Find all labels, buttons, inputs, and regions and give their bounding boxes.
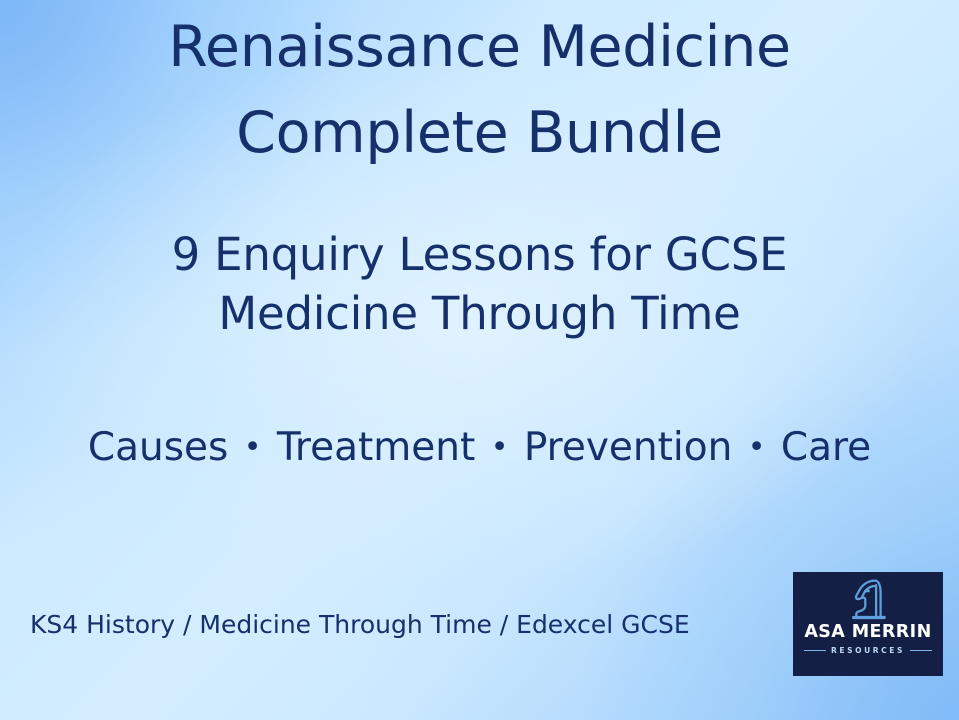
- title-line-2: Complete Bundle: [0, 104, 959, 163]
- slide-tagline: Causes • Treatment • Prevention • Care: [0, 425, 959, 472]
- tagline-separator-1: •: [241, 430, 265, 465]
- slide-subtitle: 9 Enquiry Lessons for GCSE Medicine Thro…: [0, 225, 959, 344]
- footer-course-info: KS4 History / Medicine Through Time / Ed…: [30, 609, 690, 640]
- tagline-separator-2: •: [488, 430, 512, 465]
- slide-canvas: Renaissance Medicine Complete Bundle 9 E…: [0, 0, 959, 720]
- slide-title: Renaissance Medicine Complete Bundle: [0, 18, 959, 164]
- tagline-item-care: Care: [781, 425, 871, 470]
- tagline-item-causes: Causes: [88, 425, 228, 470]
- chess-knight-icon: [845, 577, 891, 622]
- logo-subtitle: RESOURCES: [831, 647, 905, 655]
- logo-rule-left: [804, 650, 826, 651]
- tagline-item-prevention: Prevention: [524, 425, 733, 470]
- logo-subtitle-row: RESOURCES: [804, 647, 932, 655]
- logo-rule-right: [910, 650, 932, 651]
- tagline-item-treatment: Treatment: [277, 425, 475, 470]
- title-line-1: Renaissance Medicine: [0, 18, 959, 77]
- brand-logo: ASA MERRIN RESOURCES: [793, 572, 943, 676]
- subtitle-line-1: 9 Enquiry Lessons for GCSE: [0, 225, 959, 284]
- logo-wordmark: ASA MERRIN: [804, 624, 931, 642]
- tagline-separator-3: •: [745, 430, 769, 465]
- subtitle-line-2: Medicine Through Time: [0, 284, 959, 343]
